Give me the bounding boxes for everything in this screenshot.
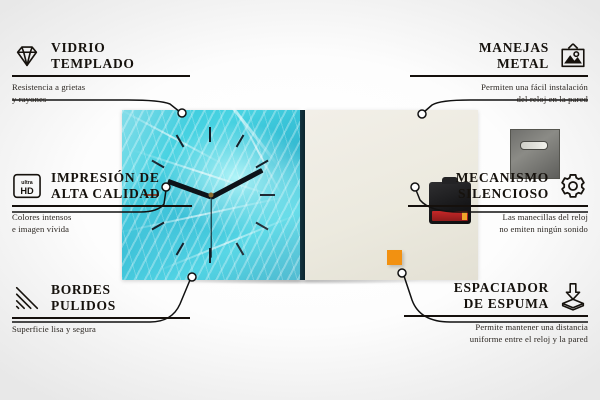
diagonal-stripes-icon	[12, 283, 42, 313]
feature-title: BORDES PULIDOS	[51, 282, 116, 313]
feature-title: ESPACIADOR DE ESPUMA	[454, 280, 549, 311]
feature-title: VIDRIO TEMPLADO	[51, 40, 135, 71]
infographic-canvas: VIDRIO TEMPLADO Resistencia a grietas y …	[0, 0, 600, 400]
feature-title: IMPRESIÓN DE ALTA CALIDAD	[51, 170, 160, 201]
feature-title: MANEJAS METAL	[479, 40, 549, 71]
ultra-hd-badge-icon: ultra HD	[12, 171, 42, 201]
clock-tick	[236, 134, 245, 147]
feature-description: Permite mantener una distancia uniforme …	[392, 321, 588, 345]
feature-mecanismo-silencioso: MECANISMO SILENCIOSO Las manecillas del …	[396, 170, 588, 235]
svg-text:HD: HD	[20, 186, 34, 196]
feature-description: Colores intensos e imagen vívida	[12, 211, 204, 235]
feature-description: Permiten una fácil instalación del reloj…	[398, 81, 588, 105]
feature-divider	[410, 75, 588, 77]
hanger-slot	[520, 141, 548, 150]
clock-tick	[209, 127, 211, 142]
clock-tick	[236, 242, 245, 255]
diamond-icon	[12, 41, 42, 71]
clock-center-pin	[209, 193, 214, 198]
gear-icon	[558, 171, 588, 201]
foam-spacer	[387, 250, 402, 265]
feature-divider	[404, 315, 588, 317]
clock-second-hand	[210, 196, 211, 258]
feature-description: Resistencia a grietas y rayones	[12, 81, 202, 105]
feature-description: Superficie lisa y segura	[12, 323, 202, 335]
arrow-down-foam-pad-icon	[558, 281, 588, 311]
feature-description: Las manecillas del reloj no emiten ningú…	[396, 211, 588, 235]
feature-bordes-pulidos: BORDES PULIDOS Superficie lisa y segura	[12, 282, 202, 335]
feature-divider	[12, 75, 190, 77]
clock-tick	[260, 194, 275, 196]
clock-minute-hand	[210, 168, 263, 199]
picture-frame-hanger-icon	[558, 41, 588, 71]
feature-manejas-metal: MANEJAS METAL Permiten una fácil instala…	[398, 40, 588, 105]
feature-divider	[12, 205, 192, 207]
clock-tick	[176, 242, 185, 255]
feature-title: MECANISMO SILENCIOSO	[456, 170, 549, 201]
feature-divider	[408, 205, 588, 207]
feature-vidrio-templado: VIDRIO TEMPLADO Resistencia a grietas y …	[12, 40, 202, 105]
feature-impresion-alta-calidad: ultra HD IMPRESIÓN DE ALTA CALIDAD Color…	[12, 170, 204, 235]
feature-divider	[12, 317, 190, 319]
feature-espaciador-espuma: ESPACIADOR DE ESPUMA Permite mantener un…	[392, 280, 588, 345]
